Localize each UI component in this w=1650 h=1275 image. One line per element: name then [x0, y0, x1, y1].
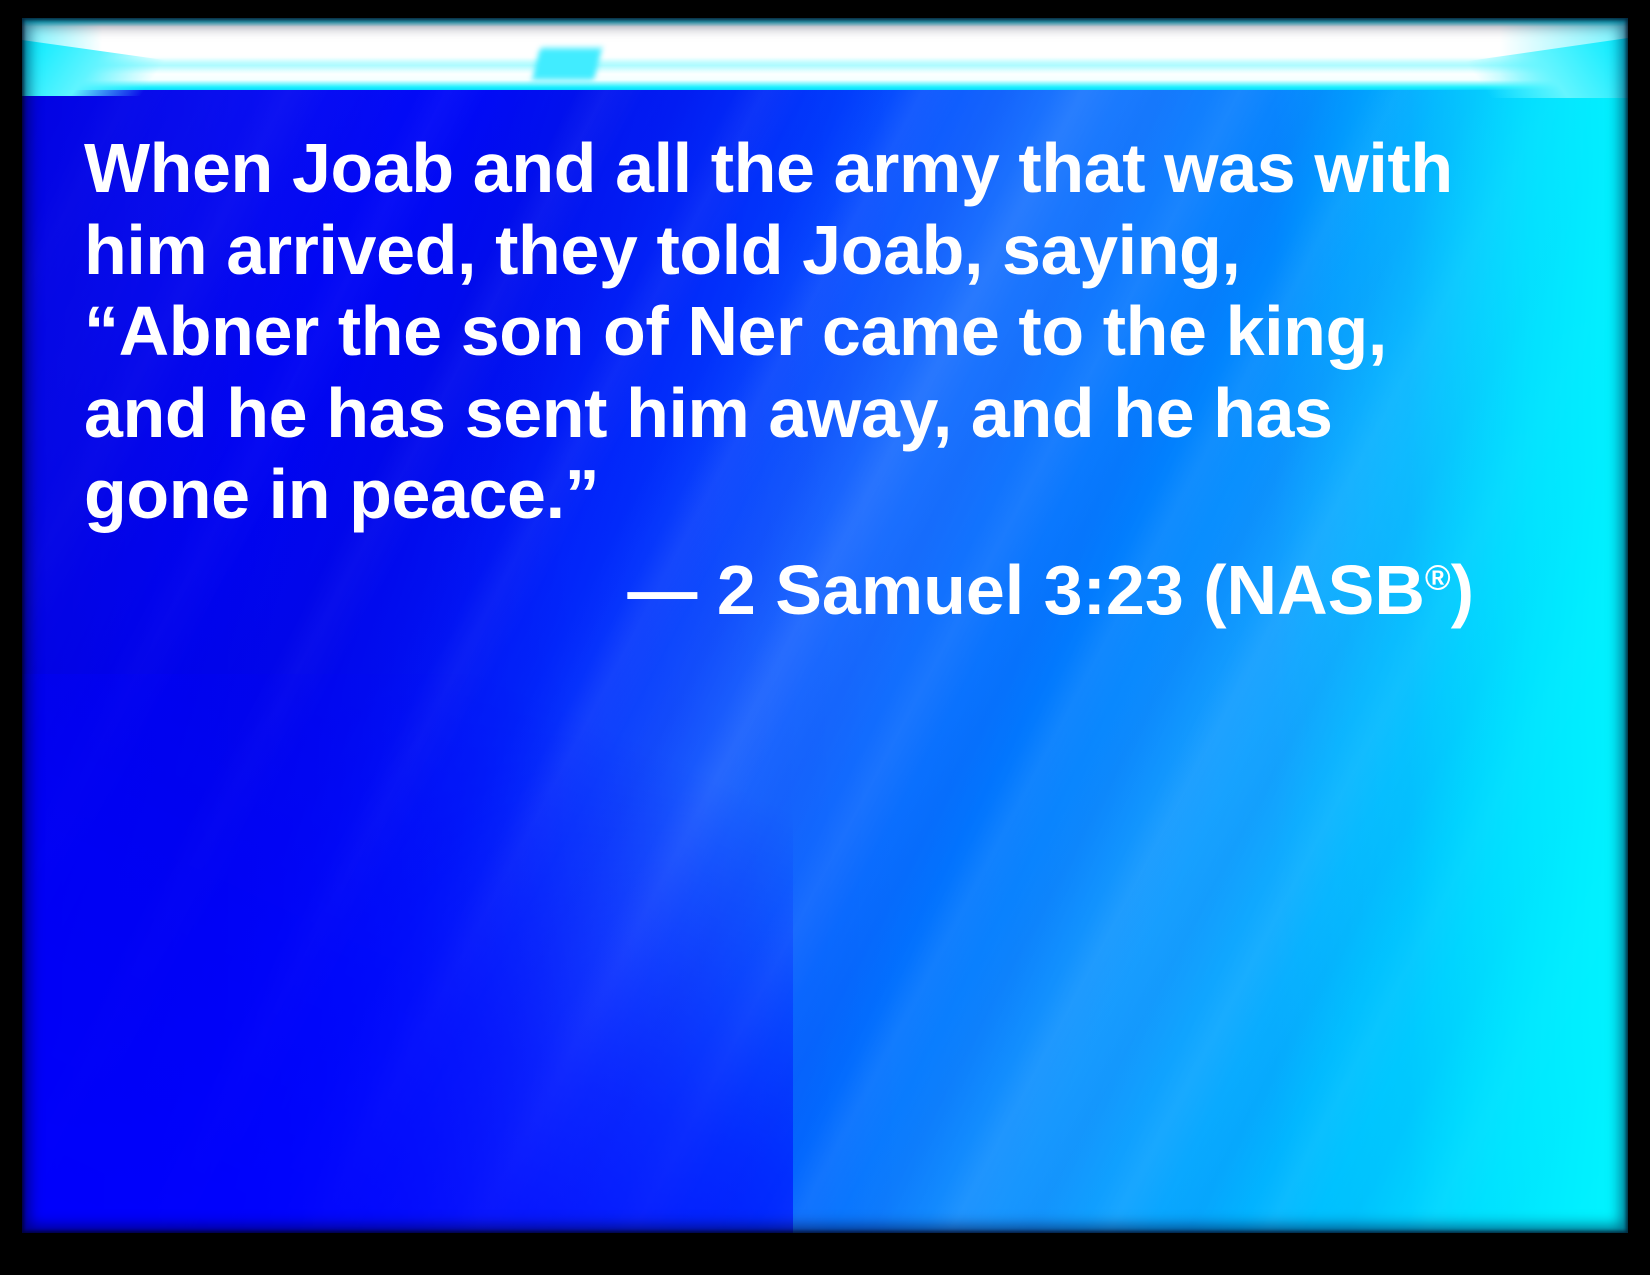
registered-trademark-icon: ® — [1425, 558, 1451, 597]
attribution-close-paren: ) — [1451, 551, 1474, 629]
top-white-banner — [22, 18, 1628, 90]
background-bottom-left-shadow — [22, 674, 793, 1233]
verse-attribution: — 2 Samuel 3:23 (NASB®) — [84, 550, 1484, 632]
banner-cyan-highlight — [532, 48, 602, 80]
attribution-reference: — 2 Samuel 3:23 (NASB — [627, 551, 1424, 629]
verse-block: When Joab and all the army that was with… — [84, 128, 1484, 631]
verse-body-text: When Joab and all the army that was with… — [84, 128, 1484, 536]
top-banner-sheen — [22, 18, 1628, 90]
slide-artwork-panel: When Joab and all the army that was with… — [22, 18, 1628, 1233]
scripture-slide: When Joab and all the army that was with… — [0, 0, 1650, 1275]
